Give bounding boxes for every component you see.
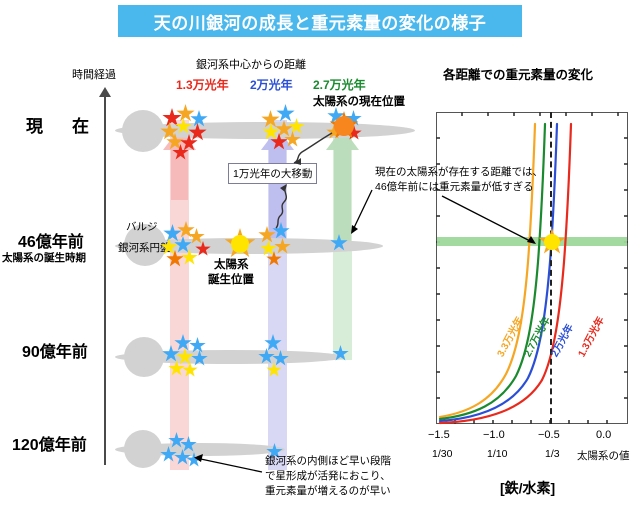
bottom-note-line1: 銀河系の内側ほど早い段階 <box>265 455 391 468</box>
xtick-sublabel-2: 1/3 <box>545 448 560 460</box>
galaxy-bulge-row-3 <box>124 430 162 468</box>
distance-label-2: 2万光年 <box>250 76 293 93</box>
page-title: 天の川銀河の成長と重元素量の変化の様子 <box>118 5 522 37</box>
bottom-note-line2: で星形成が活発におこり、 <box>265 470 391 483</box>
distance-label-3: 2.7万光年 <box>313 76 366 93</box>
chart-reference-line-solar <box>550 112 552 424</box>
xtick-sublabel-0: 1/30 <box>432 448 452 460</box>
distance-header: 銀河系中心からの距離 <box>196 56 306 72</box>
time-axis-label: 時間経過 <box>72 66 116 82</box>
disk-label: 銀河系円盤 <box>118 240 171 255</box>
xtick-label-0: −1.5 <box>428 429 450 441</box>
chart-sun-marker <box>544 234 560 250</box>
chart-title: 各距離での重元素量の変化 <box>443 64 593 83</box>
time-row-label-3: 120億年前 <box>12 431 87 455</box>
xtick-sublabel-1: 1/10 <box>487 448 507 460</box>
xtick-label-1: −1.0 <box>483 429 505 441</box>
chart-reference-band-46oku <box>437 237 627 246</box>
bulge-label: バルジ <box>126 219 158 234</box>
time-axis <box>104 95 106 465</box>
galaxy-bulge-row-2 <box>124 337 164 377</box>
time-row-label-1: 46億年前 <box>18 228 84 252</box>
chart-annotation-line2: 46億年前には重元素量が低すぎる <box>375 181 534 194</box>
sun-birth-position <box>231 235 249 253</box>
chart-plot-area <box>436 112 628 424</box>
time-row-label-2: 90億年前 <box>22 338 88 362</box>
galaxy-bulge-row-0 <box>122 110 164 152</box>
xtick-sublabel-3: 太陽系の値 <box>577 448 630 463</box>
sun-current-position <box>334 116 354 136</box>
current-sun-position-label: 太陽系の現在位置 <box>313 93 405 109</box>
xtick-label-2: −0.5 <box>538 429 560 441</box>
page-title-text: 天の川銀河の成長と重元素量の変化の様子 <box>154 9 487 34</box>
sun-birth-label-line2: 誕生位置 <box>208 271 254 287</box>
distance-band-13 <box>170 120 189 470</box>
time-row-sublabel-1: 太陽系の誕生時期 <box>2 250 86 265</box>
chart-annotation-line1: 現在の太陽系が存在する距離では、 <box>375 166 543 179</box>
sun-birth-label-line1: 太陽系 <box>214 256 249 272</box>
distance-label-1: 1.3万光年 <box>176 76 229 93</box>
time-row-label-0: 現 在 <box>26 112 95 137</box>
bottom-note-line3: 重元素量が増えるのが早い <box>265 485 391 498</box>
migration-callout: 1万光年の大移動 <box>228 163 317 184</box>
xtick-label-3: 0.0 <box>596 429 611 441</box>
chart-xlabel: [鉄/水素] <box>500 478 555 498</box>
